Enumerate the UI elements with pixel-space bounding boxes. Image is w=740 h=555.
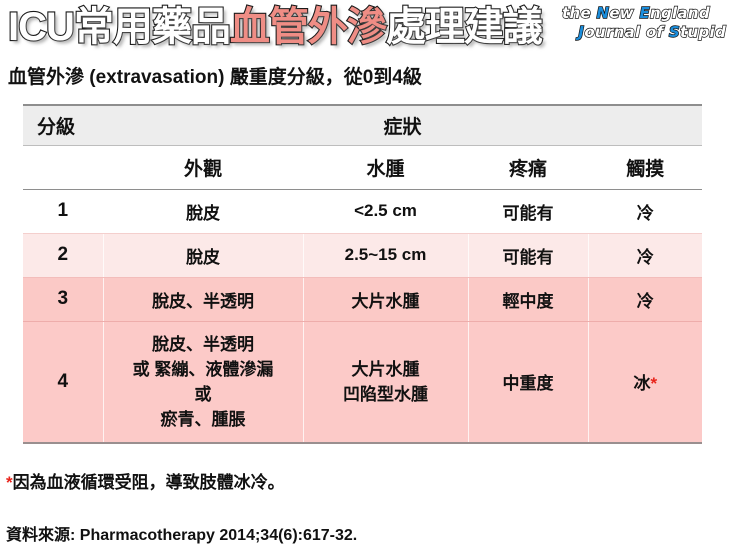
- cell-touch: 冷: [588, 277, 702, 321]
- cell-grade: 3: [23, 277, 103, 321]
- cell-line: 或: [104, 382, 303, 407]
- table-row: 1 脫皮 <2.5 cm 可能有 冷: [23, 189, 702, 233]
- cell-touch-text: 冰: [633, 374, 650, 393]
- footnote: *因為血液循環受阻，導致肢體冰冷。: [6, 468, 285, 493]
- header-pain: 疼痛: [468, 145, 588, 189]
- title-band: ICU常用藥品血管外滲處理建議 the New England Journal …: [0, 0, 740, 58]
- cell-touch: 冷: [588, 189, 702, 233]
- logo-capital: N: [596, 4, 609, 22]
- cell-appearance: 脫皮、半透明 或 緊繃、液體滲漏 或 瘀青、腫脹: [103, 321, 303, 443]
- table-row: 2 脫皮 2.5~15 cm 可能有 冷: [23, 233, 702, 277]
- header-symptom: 症狀: [103, 105, 702, 145]
- cell-pain: 中重度: [468, 321, 588, 443]
- cell-line: 脫皮、半透明: [104, 332, 303, 357]
- header-edema: 水腫: [303, 145, 468, 189]
- cell-appearance: 脫皮、半透明: [103, 277, 303, 321]
- title-segment-red: 血管外滲: [230, 2, 386, 52]
- table-row: 3 脫皮、半透明 大片水腫 輕中度 冷: [23, 277, 702, 321]
- logo-capital: E: [639, 4, 650, 22]
- cell-touch: 冰*: [588, 321, 702, 443]
- table-header-main-row: 分級 症狀: [23, 105, 702, 145]
- logo-text: h: [569, 4, 580, 22]
- cell-edema: 2.5~15 cm: [303, 233, 468, 277]
- cell-touch: 冷: [588, 233, 702, 277]
- cell-line: 瘀青、腫脹: [104, 407, 303, 432]
- logo-text: ournal of: [584, 23, 669, 41]
- logo-capital: S: [669, 23, 680, 41]
- logo-text: ngland: [650, 4, 710, 22]
- cell-edema: 大片水腫: [303, 277, 468, 321]
- footnote-asterisk: *: [6, 473, 13, 492]
- journal-logo-line-1: the New England: [558, 4, 730, 23]
- page-title: ICU常用藥品血管外滲處理建議: [8, 2, 542, 52]
- cell-appearance: 脫皮: [103, 189, 303, 233]
- footnote-marker-asterisk: *: [650, 374, 657, 393]
- title-segment-white-1: ICU常用藥品: [8, 2, 230, 52]
- header-sub-grade-blank: [23, 145, 103, 189]
- table-row: 4 脫皮、半透明 或 緊繃、液體滲漏 或 瘀青、腫脹 大片水腫 凹陷型水腫 中重…: [23, 321, 702, 443]
- logo-text: e: [580, 4, 596, 22]
- footnote-text: 因為血液循環受阻，導致肢體冰冷。: [13, 473, 285, 492]
- cell-line: 凹陷型水腫: [304, 382, 468, 407]
- cell-grade: 1: [23, 189, 103, 233]
- cell-pain: 可能有: [468, 233, 588, 277]
- cell-pain: 輕中度: [468, 277, 588, 321]
- cell-grade: 4: [23, 321, 103, 443]
- journal-logo-line-2: Journal of Stupid: [558, 23, 730, 42]
- cell-edema: <2.5 cm: [303, 189, 468, 233]
- logo-text: tupid: [680, 23, 726, 41]
- table-header-sub-row: 外觀 水腫 疼痛 觸摸: [23, 145, 702, 189]
- header-grade: 分級: [23, 105, 103, 145]
- cell-edema: 大片水腫 凹陷型水腫: [303, 321, 468, 443]
- header-appearance: 外觀: [103, 145, 303, 189]
- journal-logo: the New England Journal of Stupid: [558, 4, 730, 42]
- source-citation: 資料來源: Pharmacotherapy 2014;34(6):617-32.: [6, 521, 357, 545]
- header-touch: 觸摸: [588, 145, 702, 189]
- logo-text: ew: [609, 4, 639, 22]
- title-segment-white-2: 處理建議: [386, 2, 542, 52]
- cell-line: 大片水腫: [304, 357, 468, 382]
- cell-appearance: 脫皮: [103, 233, 303, 277]
- cell-line: 或 緊繃、液體滲漏: [104, 357, 303, 382]
- cell-pain: 可能有: [468, 189, 588, 233]
- cell-grade: 2: [23, 233, 103, 277]
- extravasation-grading-table: 分級 症狀 外觀 水腫 疼痛 觸摸 1 脫皮 <2.5 cm 可能有 冷 2 脫…: [23, 104, 702, 444]
- subtitle: 血管外滲 (extravasation) 嚴重度分級，從0到4級: [8, 62, 422, 89]
